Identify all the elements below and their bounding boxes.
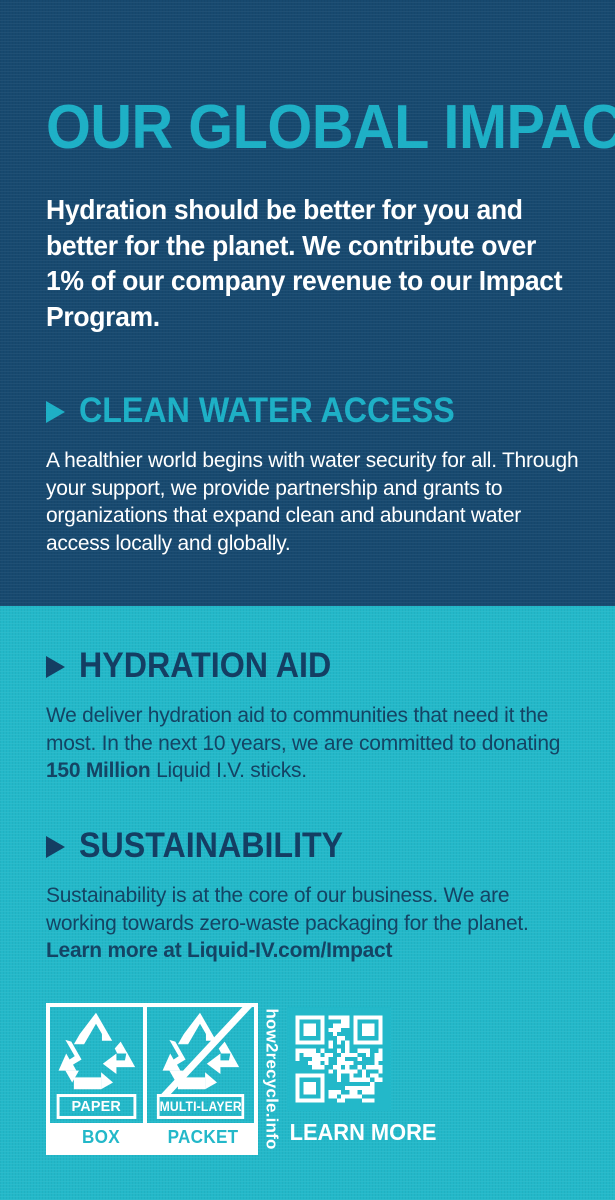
how2recycle-form-row: BOX PACKET [50,1123,254,1151]
section-body-clean-water-access: A healthier world begins with water secu… [46,447,580,557]
how2recycle-material-paper: PAPER [57,1094,136,1119]
how2recycle-form-packet: PACKET [155,1123,252,1151]
impact-label-panel: OUR GLOBAL IMPACT Hydration should be be… [0,0,615,1200]
qr-caption: LEARN MORE [290,1121,389,1144]
how2recycle-panel-paper-box: PAPER [50,1007,143,1123]
mobius-recycle-icon [50,1007,143,1094]
how2recycle-url-label: how2recycle.info [263,1008,280,1149]
section-title-sustainability: SUSTAINABILITY [79,828,343,863]
learn-more-link-text[interactable]: Learn more at Liquid-IV.com/Impact [46,938,392,962]
hydration-body-text-end: Liquid I.V. sticks. [150,758,306,782]
section-body-hydration-aid: We deliver hydration aid to communities … [46,702,580,785]
qr-code-block[interactable]: LEARN MORE [287,1007,391,1144]
hydration-donation-amount: 150 Million [46,758,150,782]
sustainability-body-text: Sustainability is at the core of our bus… [46,883,529,935]
section-title-clean-water-access: CLEAN WATER ACCESS [79,393,455,428]
intro-paragraph: Hydration should be better for you and b… [46,192,573,334]
triangle-right-icon [46,401,65,423]
how2recycle-panels: PAPER [50,1007,254,1123]
section-body-sustainability: Sustainability is at the core of our bus… [46,882,580,965]
how2recycle-panel-multilayer-packet: MULTI-LAYER [143,1007,254,1123]
how2recycle-url[interactable]: how2recycle.info [258,1003,285,1155]
section-title-hydration-aid: HYDRATION AID [79,648,331,683]
how2recycle-frame: PAPER [46,1003,258,1155]
how2recycle-material-multilayer: MULTI-LAYER [156,1094,244,1119]
qr-code-icon[interactable] [287,1007,391,1111]
how2recycle-badge[interactable]: PAPER [46,1003,285,1155]
mobius-recycle-struck-icon [147,1007,254,1094]
page-title: OUR GLOBAL IMPACT [46,97,615,159]
section-heading-hydration-aid: HYDRATION AID [46,648,353,683]
section-heading-clean-water-access: CLEAN WATER ACCESS [46,393,487,428]
section-heading-sustainability: SUSTAINABILITY [46,828,366,863]
hydration-body-text-start: We deliver hydration aid to communities … [46,703,560,755]
how2recycle-form-box: BOX [53,1123,150,1151]
triangle-right-icon [46,656,65,678]
triangle-right-icon [46,836,65,858]
